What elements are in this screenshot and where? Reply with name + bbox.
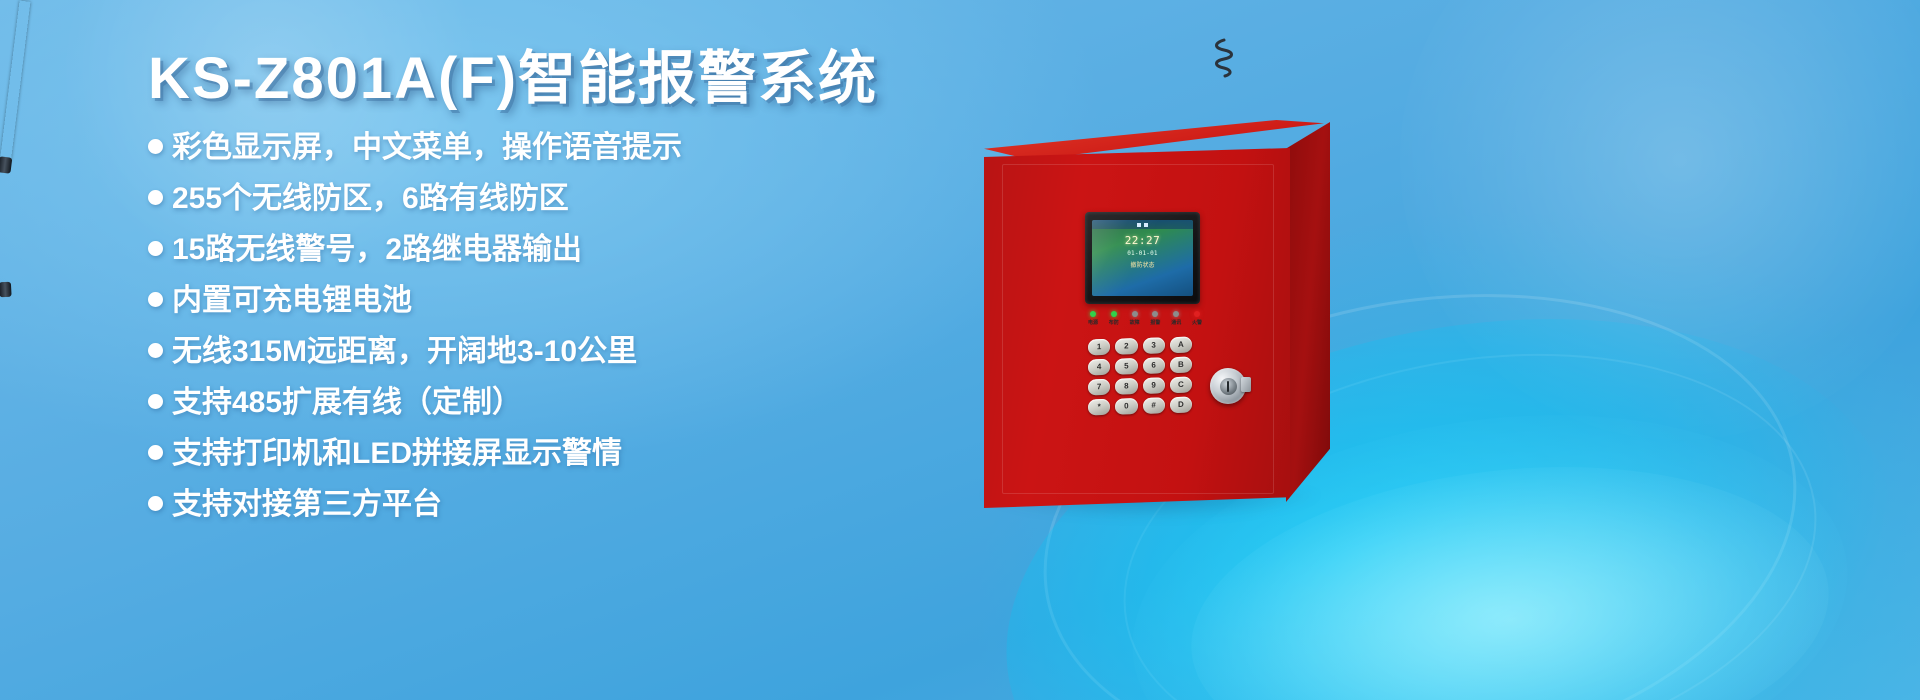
- feature-label: 支持对接第三方平台: [172, 490, 442, 520]
- led-label: 火警: [1192, 319, 1202, 326]
- feature-label: 15路无线警号，2路继电器输出: [172, 235, 582, 265]
- led-indicator-row: [1090, 311, 1200, 317]
- feature-label: 支持打印机和LED拼接屏显示警情: [172, 439, 622, 469]
- lcd-clock: 22:27: [1092, 234, 1193, 247]
- bullet-dot-icon: [148, 292, 163, 307]
- bullet-dot-icon: [148, 343, 163, 358]
- lcd-date: 01-01-01: [1092, 250, 1193, 257]
- feature-label: 彩色显示屏，中文菜单，操作语音提示: [172, 133, 682, 163]
- key-c[interactable]: C: [1170, 377, 1192, 394]
- feature-item: 彩色显示屏，中文菜单，操作语音提示: [148, 133, 948, 163]
- banner-text-block: KS-Z801A(F)智能报警系统 彩色显示屏，中文菜单，操作语音提示 255个…: [148, 46, 948, 541]
- lcd-status-text: 撤防状态: [1092, 260, 1193, 269]
- led-label: 布防: [1109, 319, 1119, 326]
- numeric-keypad[interactable]: 1 2 3 A 4 5 6 B 7 8 9 C * 0 # D: [1088, 337, 1192, 416]
- key-3[interactable]: 3: [1143, 337, 1165, 354]
- led-label: 电源: [1088, 319, 1098, 326]
- key-hash[interactable]: #: [1143, 397, 1165, 414]
- promo-banner: KS-Z801A(F)智能报警系统 彩色显示屏，中文菜单，操作语音提示 255个…: [0, 0, 1920, 700]
- feature-item: 无线315M远距离，开阔地3-10公里: [148, 337, 948, 367]
- feature-item: 15路无线警号，2路继电器输出: [148, 235, 948, 265]
- key-b[interactable]: B: [1170, 357, 1192, 374]
- feature-label: 支持485扩展有线（定制）: [172, 388, 522, 418]
- lock-keyhole-icon: [1220, 378, 1237, 395]
- led-label: 报警: [1150, 319, 1160, 326]
- key-8[interactable]: 8: [1115, 378, 1137, 395]
- lcd-status-bar: [1092, 220, 1193, 229]
- key-1[interactable]: 1: [1088, 339, 1110, 356]
- led-label-row: 电源 布防 故障 报警 通讯 火警: [1088, 319, 1202, 326]
- lock-tab-icon: [1241, 377, 1251, 392]
- feature-item: 255个无线防区，6路有线防区: [148, 184, 948, 214]
- key-5[interactable]: 5: [1115, 358, 1137, 375]
- feature-item: 支持打印机和LED拼接屏显示警情: [148, 439, 948, 469]
- enclosure-right-side: [1286, 122, 1330, 502]
- key-9[interactable]: 9: [1143, 377, 1165, 394]
- lcd-screen[interactable]: 22:27 01-01-01 撤防状态: [1092, 220, 1193, 296]
- led-power-icon: [1090, 311, 1096, 317]
- bullet-dot-icon: [148, 394, 163, 409]
- led-fire-icon: [1194, 311, 1200, 317]
- feature-label: 内置可充电锂电池: [172, 286, 412, 316]
- key-lock-icon[interactable]: [1210, 368, 1246, 404]
- led-arm-icon: [1111, 311, 1117, 317]
- led-label: 故障: [1130, 319, 1140, 326]
- feature-label: 255个无线防区，6路有线防区: [172, 184, 569, 214]
- key-d[interactable]: D: [1170, 397, 1192, 414]
- key-4[interactable]: 4: [1088, 359, 1110, 376]
- bullet-dot-icon: [148, 139, 163, 154]
- led-label: 通讯: [1171, 319, 1181, 326]
- antenna-coil-icon: [1210, 38, 1238, 84]
- feature-label: 无线315M远距离，开阔地3-10公里: [172, 337, 637, 367]
- antenna-right-icon: [0, 160, 10, 285]
- key-star[interactable]: *: [1088, 399, 1110, 416]
- lcd-glare: [1092, 220, 1193, 296]
- key-7[interactable]: 7: [1088, 379, 1110, 396]
- key-a[interactable]: A: [1170, 337, 1192, 354]
- feature-item: 支持对接第三方平台: [148, 490, 948, 520]
- bullet-dot-icon: [148, 190, 163, 205]
- key-0[interactable]: 0: [1115, 398, 1137, 415]
- antenna-left-icon: [0, 1, 30, 161]
- key-2[interactable]: 2: [1115, 338, 1137, 355]
- led-comm-icon: [1173, 311, 1179, 317]
- led-alarm-icon: [1152, 311, 1158, 317]
- feature-list: 彩色显示屏，中文菜单，操作语音提示 255个无线防区，6路有线防区 15路无线警…: [148, 133, 948, 520]
- lcd-bezel: 22:27 01-01-01 撤防状态: [1085, 212, 1200, 304]
- signal-icon: [1137, 223, 1141, 227]
- product-title: KS-Z801A(F)智能报警系统: [148, 46, 948, 113]
- bullet-dot-icon: [148, 496, 163, 511]
- feature-item: 内置可充电锂电池: [148, 286, 948, 316]
- battery-icon: [1144, 223, 1148, 227]
- feature-item: 支持485扩展有线（定制）: [148, 388, 948, 418]
- key-6[interactable]: 6: [1143, 357, 1165, 374]
- bullet-dot-icon: [148, 241, 163, 256]
- led-fault-icon: [1132, 311, 1138, 317]
- bullet-dot-icon: [148, 445, 163, 460]
